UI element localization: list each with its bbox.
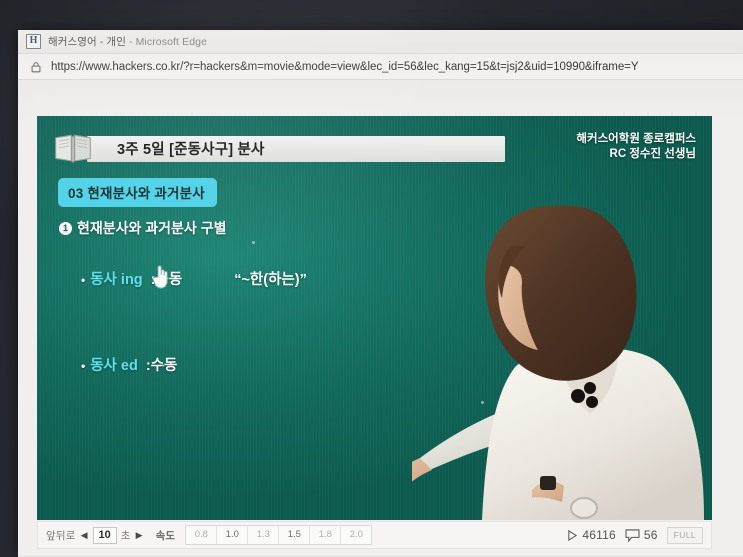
bullet-note: “~한(하는)” bbox=[234, 268, 307, 289]
screen-speck bbox=[481, 401, 484, 404]
bullet-marker: • bbox=[81, 273, 85, 287]
slide-title-bar: 3주 5일 [준동사구] 분사 bbox=[87, 136, 505, 162]
seek-forward-button[interactable]: ▶ bbox=[136, 530, 143, 541]
window-title-app: - Microsoft Edge bbox=[126, 36, 207, 48]
section-badge: 03 현재분사와 과거분사 bbox=[58, 178, 217, 207]
instructor-credit: 해커스어학원 종로캠퍼스 RC 정수진 선생님 bbox=[576, 132, 696, 162]
slide-heading: 1 현재분사와 과거분사 구별 bbox=[59, 218, 226, 238]
bullet-term: 동사 ing bbox=[90, 268, 142, 289]
url-text[interactable]: https://www.hackers.co.kr/?r=hackers&m=m… bbox=[51, 61, 638, 73]
bullet-item: • 동사 ed : 수동 bbox=[81, 354, 177, 375]
lock-icon bbox=[29, 60, 43, 74]
play-count-value: 46116 bbox=[582, 528, 615, 542]
player-stats-group: 46116 56 FULL bbox=[567, 527, 703, 544]
speed-option-1.5[interactable]: 1.5 bbox=[279, 526, 310, 544]
speed-option-1.0[interactable]: 1.0 bbox=[217, 526, 248, 544]
playback-speed-group[interactable]: 0.8 1.0 1.3 1.5 1.8 2.0 bbox=[185, 525, 372, 545]
seconds-unit-label: 초 bbox=[121, 528, 131, 543]
browser-title-bar: H 해커스영어 - 개인 - Microsoft Edge bbox=[18, 30, 743, 54]
monitor-photo-frame: H 해커스영어 - 개인 - Microsoft Edge https://ww… bbox=[0, 0, 743, 557]
fullscreen-button[interactable]: FULL bbox=[667, 527, 703, 544]
page-content: 3주 5일 [준동사구] 분사 해커스어학원 종로캠퍼스 RC 정수진 선생님 … bbox=[18, 80, 743, 557]
comment-count-stat: 56 bbox=[625, 528, 658, 542]
bullet-marker: • bbox=[81, 359, 85, 373]
heading-text: 현재분사와 과거분사 구별 bbox=[77, 218, 226, 238]
address-bar[interactable]: https://www.hackers.co.kr/?r=hackers&m=m… bbox=[18, 54, 743, 80]
window-title: 해커스영어 - 개인 - Microsoft Edge bbox=[48, 34, 207, 49]
academy-name: 해커스어학원 종로캠퍼스 bbox=[576, 132, 696, 147]
player-control-bar[interactable]: 앞뒤로 ◀ 10 초 ▶ 속도 0.8 1.0 1.3 1.5 1.8 2.0 bbox=[37, 521, 712, 549]
seek-backward-button[interactable]: ◀ bbox=[81, 530, 88, 541]
speed-option-2.0[interactable]: 2.0 bbox=[341, 526, 371, 544]
heading-number: 1 bbox=[59, 222, 72, 235]
hand-pointer-cursor bbox=[151, 263, 171, 289]
seek-label: 앞뒤로 bbox=[46, 528, 76, 543]
play-count-stat: 46116 bbox=[567, 528, 615, 542]
play-triangle-icon bbox=[567, 530, 578, 541]
speed-label: 속도 bbox=[156, 528, 176, 543]
speed-option-0.8[interactable]: 0.8 bbox=[186, 526, 217, 544]
bullet-term: 동사 ed bbox=[90, 354, 138, 375]
open-book-icon bbox=[53, 132, 93, 165]
comment-bubble-icon bbox=[625, 529, 640, 542]
speed-option-1.3[interactable]: 1.3 bbox=[248, 526, 279, 544]
instructor-name: RC 정수진 선생님 bbox=[576, 147, 696, 162]
screen-speck bbox=[252, 241, 255, 244]
bullet-item: • 동사 ing : 능동 “~한(하는)” bbox=[81, 268, 307, 289]
speed-option-1.8[interactable]: 1.8 bbox=[310, 526, 341, 544]
comment-count-value: 56 bbox=[644, 528, 658, 542]
lecture-video-player[interactable]: 3주 5일 [준동사구] 분사 해커스어학원 종로캠퍼스 RC 정수진 선생님 … bbox=[37, 116, 712, 520]
hackers-favicon: H bbox=[26, 34, 41, 49]
window-title-page: 해커스영어 - 개인 bbox=[48, 36, 126, 48]
instructor-figure bbox=[412, 190, 712, 520]
seek-seconds-input[interactable]: 10 bbox=[93, 527, 117, 544]
slide-title-text: 3주 5일 [준동사구] 분사 bbox=[117, 138, 265, 159]
browser-window: H 해커스영어 - 개인 - Microsoft Edge https://ww… bbox=[18, 30, 743, 557]
bullet-value: 수동 bbox=[151, 354, 178, 375]
slide-title-row: 3주 5일 [준동사구] 분사 bbox=[53, 132, 505, 165]
